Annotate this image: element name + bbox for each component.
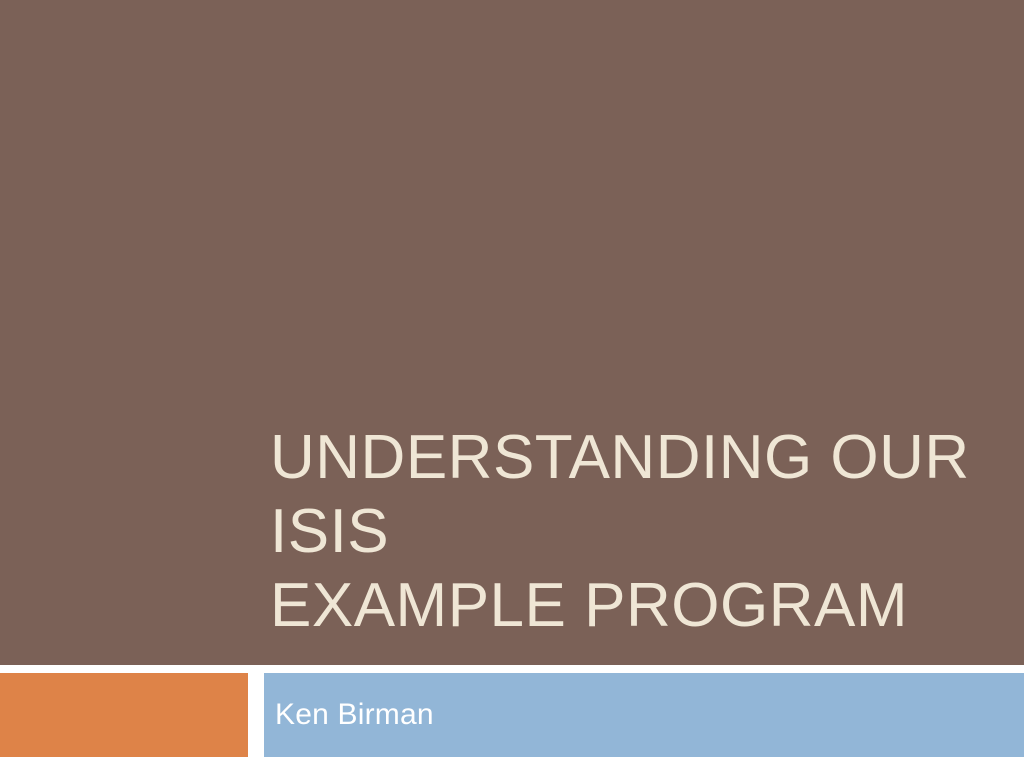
- accent-block-orange: [0, 673, 248, 757]
- subtitle-text: Ken Birman: [275, 673, 434, 757]
- title-placeholder[interactable]: UNDERSTANDING OUR ISIS EXAMPLE PROGRAM: [270, 421, 998, 643]
- page-title: UNDERSTANDING OUR ISIS EXAMPLE PROGRAM: [270, 421, 998, 643]
- footer-accent-row: Ken Birman: [0, 673, 1024, 757]
- title-slide: UNDERSTANDING OUR ISIS EXAMPLE PROGRAM K…: [0, 0, 1024, 768]
- title-background-panel: UNDERSTANDING OUR ISIS EXAMPLE PROGRAM: [0, 0, 1024, 665]
- bottom-margin-strip: [0, 757, 1024, 768]
- subtitle-band-blue[interactable]: Ken Birman: [264, 673, 1024, 757]
